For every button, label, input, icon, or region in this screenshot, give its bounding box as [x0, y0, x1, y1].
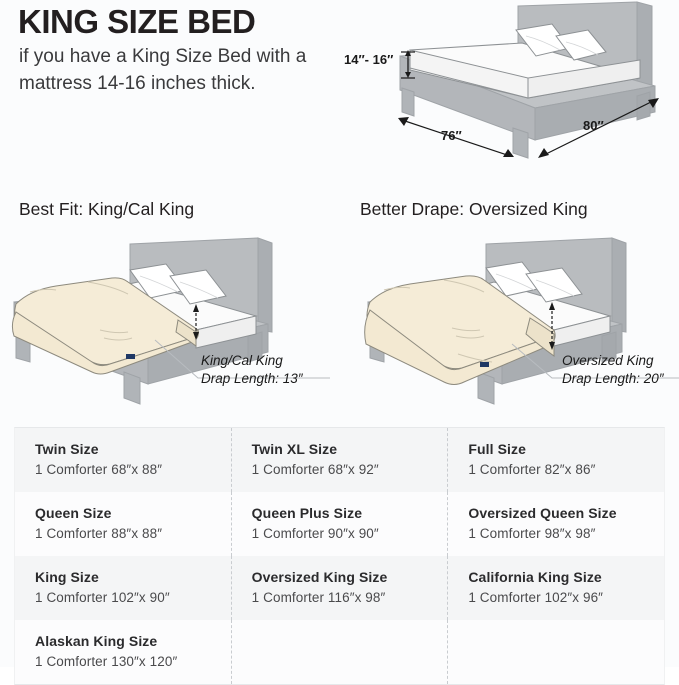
table-cell	[448, 620, 664, 684]
bed-width-label: 76″	[441, 128, 462, 143]
bed-height-label: 14″- 16″	[344, 52, 393, 67]
table-row: King Size 1 Comforter 102″x 90″ Oversize…	[15, 556, 664, 620]
table-cell: Oversized Queen Size 1 Comforter 98″x 98…	[448, 492, 664, 556]
table-cell: King Size 1 Comforter 102″x 90″	[15, 556, 232, 620]
table-cell: Full Size 1 Comforter 82″x 86″	[448, 428, 664, 492]
comforter-dimensions: 1 Comforter 98″x 98″	[468, 524, 664, 545]
table-row: Alaskan King Size 1 Comforter 130″x 120″	[15, 620, 664, 684]
table-cell: Alaskan King Size 1 Comforter 130″x 120″	[15, 620, 232, 684]
size-name: Twin Size	[35, 439, 231, 460]
page-subtitle: if you have a King Size Bed with a mattr…	[19, 44, 319, 98]
size-name: Alaskan King Size	[35, 631, 231, 652]
size-name: Queen Size	[35, 503, 231, 524]
size-name: Full Size	[468, 439, 664, 460]
table-cell: Queen Plus Size 1 Comforter 90″x 90″	[232, 492, 449, 556]
comforter-dimensions: 1 Comforter 68″x 92″	[252, 460, 448, 481]
comforter-dimensions: 1 Comforter 102″x 96″	[468, 588, 664, 609]
size-name: Twin XL Size	[252, 439, 448, 460]
table-row: Twin Size 1 Comforter 68″x 88″ Twin XL S…	[15, 428, 664, 492]
better-drape-bed-illustration	[340, 232, 679, 422]
callout-line-1: King/Cal King	[201, 352, 303, 370]
comforter-dimensions: 1 Comforter 68″x 88″	[35, 460, 231, 481]
page-title: KING SIZE BED	[18, 4, 255, 40]
section-heading-best-fit: Best Fit: King/Cal King	[19, 199, 194, 220]
comforter-dimensions: 1 Comforter 102″x 90″	[35, 588, 231, 609]
table-cell	[232, 620, 449, 684]
table-cell: Oversized King Size 1 Comforter 116″x 98…	[232, 556, 449, 620]
table-cell: Twin Size 1 Comforter 68″x 88″	[15, 428, 232, 492]
callout-line-2: Drap Length: 13″	[201, 370, 303, 388]
comforter-dimensions: 1 Comforter 90″x 90″	[252, 524, 448, 545]
callout-line-2: Drap Length: 20″	[562, 370, 664, 388]
king-bed-dimension-illustration	[330, 0, 679, 180]
better-drape-drape-callout: Oversized King Drap Length: 20″	[562, 352, 664, 388]
best-fit-drape-callout: King/Cal King Drap Length: 13″	[201, 352, 303, 388]
size-name: Queen Plus Size	[252, 503, 448, 524]
table-cell: Queen Size 1 Comforter 88″x 88″	[15, 492, 232, 556]
comforter-dimensions: 1 Comforter 82″x 86″	[468, 460, 664, 481]
best-fit-bed-illustration	[0, 232, 345, 422]
table-cell: California King Size 1 Comforter 102″x 9…	[448, 556, 664, 620]
size-name: King Size	[35, 567, 231, 588]
comforter-dimensions: 1 Comforter 130″x 120″	[35, 652, 231, 673]
infographic-page: KING SIZE BED if you have a King Size Be…	[0, 0, 679, 667]
comforter-dimensions: 1 Comforter 116″x 98″	[252, 588, 448, 609]
comforter-size-table: Twin Size 1 Comforter 68″x 88″ Twin XL S…	[14, 427, 665, 685]
callout-line-1: Oversized King	[562, 352, 664, 370]
table-row: Queen Size 1 Comforter 88″x 88″ Queen Pl…	[15, 492, 664, 556]
size-name: California King Size	[468, 567, 664, 588]
comforter-dimensions: 1 Comforter 88″x 88″	[35, 524, 231, 545]
size-name: Oversized Queen Size	[468, 503, 664, 524]
section-heading-better-drape: Better Drape: Oversized King	[360, 199, 588, 220]
bed-depth-label: 80″	[583, 118, 604, 133]
size-name: Oversized King Size	[252, 567, 448, 588]
table-cell: Twin XL Size 1 Comforter 68″x 92″	[232, 428, 449, 492]
